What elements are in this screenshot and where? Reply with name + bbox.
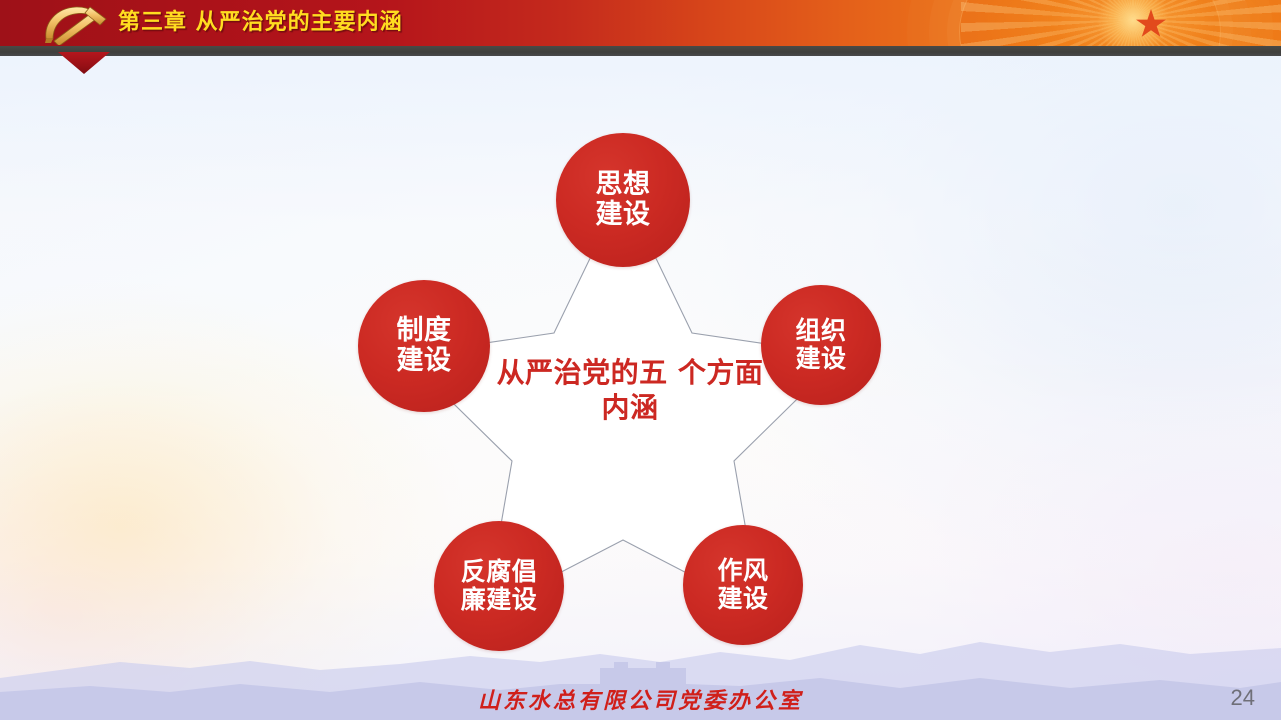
- node-ideology-line2: 建设: [596, 200, 651, 230]
- page-title: 第三章 从严治党的主要内涵: [118, 8, 403, 38]
- node-anticorruption-line1: 反腐倡: [461, 558, 538, 586]
- node-organization-line2: 建设: [795, 345, 846, 373]
- slide-canvas: 第三章 从严治党的主要内涵 思想 建设 组织 建设 制度 建设: [0, 0, 1281, 720]
- diagram-center-label: 从严治党的五 个方面内涵: [490, 355, 770, 425]
- node-anticorruption[interactable]: 反腐倡 廉建设: [434, 521, 564, 651]
- node-workstyle-line2: 建设: [717, 585, 768, 613]
- node-organization[interactable]: 组织 建设: [761, 285, 881, 405]
- center-label-line1: 从严治党的五: [497, 356, 668, 389]
- node-workstyle-line1: 作风: [717, 557, 768, 585]
- node-system[interactable]: 制度 建设: [358, 280, 490, 412]
- node-workstyle[interactable]: 作风 建设: [683, 525, 803, 645]
- node-organization-line1: 组织: [795, 317, 846, 345]
- node-ideology-line1: 思想: [596, 170, 651, 200]
- hammer-and-sickle-icon: [36, 3, 114, 45]
- node-system-line1: 制度: [397, 316, 452, 346]
- five-aspects-star-diagram: 思想 建设 组织 建设 制度 建设 反腐倡 廉建设 作风: [340, 118, 920, 663]
- node-anticorruption-line2: 廉建设: [461, 586, 538, 614]
- node-system-line2: 建设: [397, 346, 452, 376]
- footer-organization: 山东水总有限公司党委办公室: [0, 683, 1281, 715]
- page-number: 24: [1231, 685, 1255, 711]
- header-divider: [0, 46, 1281, 56]
- header-radiant-rays-icon: [961, 0, 1281, 46]
- node-ideology[interactable]: 思想 建设: [556, 133, 690, 267]
